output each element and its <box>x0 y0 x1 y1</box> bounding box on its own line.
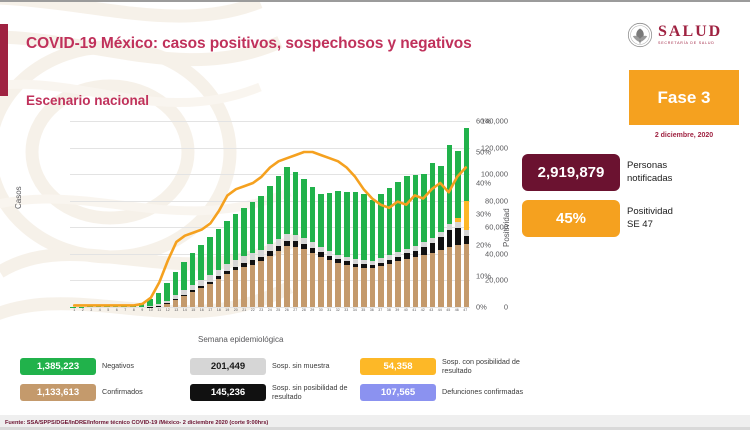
chart-bar <box>139 121 145 307</box>
chart-bar <box>370 121 376 307</box>
covid-chart: Casos Positividad Semana epidemiológica … <box>18 117 508 357</box>
bar-segment <box>395 252 401 257</box>
bar-segment <box>198 280 204 286</box>
chart-bar <box>293 121 299 307</box>
bar-segment <box>216 229 222 270</box>
phase-badge: Fase 3 <box>629 70 739 125</box>
chart-bar <box>241 121 247 307</box>
bar-segment <box>164 301 170 303</box>
bar-segment <box>113 306 119 307</box>
bar-segment <box>447 145 453 225</box>
chart-bar <box>130 121 136 307</box>
bar-segment <box>207 237 213 275</box>
bar-segment <box>104 306 110 307</box>
bar-segment <box>173 295 179 299</box>
bar-segment <box>173 272 179 296</box>
bar-segment <box>378 266 384 307</box>
x-tick-label: 15 <box>189 309 198 321</box>
chart-bar <box>198 121 204 307</box>
x-tick-label: 41 <box>410 309 419 321</box>
x-tick-label: 12 <box>164 309 173 321</box>
bar-segment <box>430 243 436 252</box>
bar-segment <box>413 257 419 307</box>
chart-bar <box>455 121 461 307</box>
chart-bar <box>164 121 170 307</box>
chart-bar <box>113 121 119 307</box>
report-date: 2 diciembre, 2020 <box>629 132 739 139</box>
x-tick-label: 47 <box>461 309 470 321</box>
bar-segment <box>284 167 290 234</box>
plot-area <box>70 121 470 307</box>
bar-segment <box>164 304 170 307</box>
chart-bar <box>413 121 419 307</box>
bar-segment <box>310 248 316 253</box>
bar-segment <box>370 265 376 269</box>
bar-segment <box>276 246 282 251</box>
bar-segment <box>344 265 350 307</box>
bar-segment <box>395 261 401 307</box>
page-subtitle: Escenario nacional <box>26 93 149 108</box>
x-tick-label: 18 <box>215 309 224 321</box>
legend-value: 145,236 <box>190 384 266 401</box>
bar-segment <box>318 194 324 246</box>
bar-segment <box>233 260 239 267</box>
legend-item: 1,133,613Confirmados <box>20 384 143 401</box>
y2-tick-label: 50% <box>476 148 491 157</box>
x-tick-label: 24 <box>266 309 275 321</box>
bar-segment <box>276 239 282 246</box>
bar-segment <box>258 196 264 250</box>
bar-segment <box>310 242 316 248</box>
x-tick-label: 44 <box>436 309 445 321</box>
bar-segment <box>344 257 350 262</box>
legend-value: 1,133,613 <box>20 384 96 401</box>
bar-segment <box>301 238 307 244</box>
legend-item: 145,236Sosp. sin posibilidad de resultad… <box>190 384 358 402</box>
chart-bar <box>447 121 453 307</box>
legend-item: 107,565Defunciones confirmadas <box>360 384 523 401</box>
bar-segment <box>207 282 213 284</box>
bar-segment <box>438 166 444 232</box>
bar-segment <box>447 230 453 247</box>
chart-bar <box>267 121 273 307</box>
legend-value: 107,565 <box>360 384 436 401</box>
bar-segment <box>258 250 264 257</box>
bar-segment <box>173 299 179 300</box>
mexico-eagle-seal-icon <box>627 22 653 48</box>
chart-bar <box>421 121 427 307</box>
bar-segment <box>224 221 230 264</box>
bar-segment <box>344 192 350 257</box>
chart-bar <box>344 121 350 307</box>
x-tick-label: 14 <box>181 309 190 321</box>
x-tick-label: 19 <box>223 309 232 321</box>
bar-segment <box>301 244 307 249</box>
bar-segment <box>181 262 187 290</box>
bar-segment <box>233 214 239 260</box>
logo-subtitle: SECRETARÍA DE SALUD <box>658 42 722 46</box>
chart-bar <box>310 121 316 307</box>
bar-segment <box>207 275 213 282</box>
bar-segment <box>190 290 196 292</box>
stat-label-positivity: Positividad SE 47 <box>627 206 673 230</box>
bar-segment <box>361 268 367 307</box>
chart-bar <box>96 121 102 307</box>
bar-segment <box>198 286 204 288</box>
bar-segment <box>404 176 410 248</box>
bar-segment <box>370 268 376 307</box>
chart-bar <box>233 121 239 307</box>
chart-bar <box>207 121 213 307</box>
bar-segment <box>310 253 316 307</box>
bar-segment <box>301 249 307 307</box>
y2-tick-label: 20% <box>476 241 491 250</box>
bar-segment <box>250 202 256 253</box>
chart-bar <box>70 121 76 307</box>
x-tick-label: 4 <box>96 309 105 321</box>
x-tick-label: 35 <box>359 309 368 321</box>
bar-segment <box>335 255 341 260</box>
bar-segment <box>164 303 170 304</box>
bar-segment <box>284 234 290 240</box>
bar-segment <box>250 253 256 260</box>
x-tick-label: 10 <box>147 309 156 321</box>
bar-segment <box>164 283 170 301</box>
bar-segment <box>96 306 102 307</box>
x-tick-label: 26 <box>283 309 292 321</box>
bar-segment <box>241 256 247 263</box>
bar-segment <box>361 260 367 264</box>
bar-segment <box>267 256 273 307</box>
stat-label-notified-line1: Personas <box>627 160 672 172</box>
y2-tick-label: 40% <box>476 179 491 188</box>
y2-tick-label: 0% <box>476 303 487 312</box>
bar-segment <box>267 186 273 244</box>
bar-segment <box>293 247 299 307</box>
legend-label: Sosp. sin muestra <box>272 362 330 371</box>
stat-value-notified: 2,919,879 <box>522 154 620 191</box>
bar-segment <box>353 267 359 307</box>
y-axis-title: Casos <box>14 186 23 209</box>
footer-source: Fuente: SSA/SPPS/DGE/InDRE/Informe técni… <box>0 420 268 426</box>
bar-segment <box>361 264 367 268</box>
bar-segment <box>198 245 204 280</box>
legend-value: 1,385,223 <box>20 358 96 375</box>
bar-segment <box>181 290 187 295</box>
chart-bar <box>404 121 410 307</box>
chart-bar <box>156 121 162 307</box>
chart-bar <box>430 121 436 307</box>
bar-segment <box>216 279 222 307</box>
bar-segment <box>430 238 436 243</box>
bar-segment <box>139 303 145 307</box>
bar-segment <box>301 179 307 239</box>
x-tick-label: 30 <box>317 309 326 321</box>
bar-segment <box>173 300 179 307</box>
bar-segment <box>455 151 461 218</box>
bar-segment <box>413 251 419 257</box>
chart-bar <box>224 121 230 307</box>
bar-segment <box>327 256 333 260</box>
chart-bar <box>121 121 127 307</box>
x-tick-label: 7 <box>121 309 130 321</box>
bar-segment <box>181 296 187 307</box>
x-tick-label: 29 <box>308 309 317 321</box>
legend-label: Defunciones confirmadas <box>442 388 523 397</box>
x-tick-label: 32 <box>334 309 343 321</box>
bar-segment <box>310 187 316 243</box>
stat-value-positivity: 45% <box>522 200 620 237</box>
stat-label-positivity-line2: SE 47 <box>627 219 673 231</box>
bar-segment <box>224 271 230 274</box>
chart-bar <box>79 121 85 307</box>
bar-segment <box>455 228 461 245</box>
x-tick-label: 13 <box>172 309 181 321</box>
bar-segment <box>335 191 341 254</box>
bar-segment <box>447 247 453 307</box>
bar-segment <box>438 250 444 307</box>
bar-segment <box>284 246 290 307</box>
x-tick-label: 5 <box>104 309 113 321</box>
chart-bar <box>327 121 333 307</box>
x-tick-label: 28 <box>300 309 309 321</box>
bar-segment <box>378 258 384 262</box>
bar-segment <box>241 208 247 256</box>
x-tick-label: 38 <box>385 309 394 321</box>
title-accent-bar <box>0 24 8 96</box>
legend-value: 201,449 <box>190 358 266 375</box>
x-tick-label: 42 <box>419 309 428 321</box>
stat-label-notified-line2: notificadas <box>627 173 672 185</box>
bar-segment <box>370 261 376 265</box>
x-tick-label: 27 <box>291 309 300 321</box>
bar-segment <box>344 261 350 265</box>
bar-segment <box>464 230 470 236</box>
bar-segment <box>190 292 196 307</box>
bar-segment <box>464 128 470 201</box>
bar-segment <box>395 182 401 252</box>
bar-segment <box>216 276 222 279</box>
bar-segment <box>430 253 436 307</box>
x-tick-label: 21 <box>240 309 249 321</box>
bar-segment <box>421 247 427 254</box>
bar-segment <box>395 257 401 262</box>
y2-tick-label: 10% <box>476 272 491 281</box>
legend-label: Sosp. sin posibilidad de resultado <box>272 384 358 402</box>
phase-label: Fase 3 <box>658 88 711 108</box>
x-tick-label: 2 <box>79 309 88 321</box>
bar-segment <box>318 247 324 252</box>
bar-segment <box>464 236 470 244</box>
chart-bar <box>318 121 324 307</box>
logo-wordmark: SALUD <box>658 24 722 40</box>
bar-segment <box>404 249 410 254</box>
y2-tick-label: 60% <box>476 117 491 126</box>
chart-bar <box>104 121 110 307</box>
bar-segment <box>447 224 453 230</box>
x-tick-label: 3 <box>87 309 96 321</box>
bar-segment <box>464 244 470 307</box>
x-tick-label: 39 <box>393 309 402 321</box>
bar-segment <box>156 306 162 307</box>
x-tick-label: 22 <box>249 309 258 321</box>
x-axis-title: Semana epidemiológica <box>198 335 283 344</box>
bar-segment <box>421 174 427 242</box>
chart-bar <box>387 121 393 307</box>
chart-bar <box>284 121 290 307</box>
bar-segment <box>130 305 136 307</box>
chart-bar <box>438 121 444 307</box>
chart-bar <box>378 121 384 307</box>
bar-segment <box>284 241 290 246</box>
bar-segment <box>190 285 196 291</box>
legend-label: Negativos <box>102 362 134 371</box>
bar-segment <box>430 163 436 238</box>
bar-segment <box>378 194 384 258</box>
legend-item: 201,449Sosp. sin muestra <box>190 358 330 375</box>
legend-label: Confirmados <box>102 388 143 397</box>
bar-segment <box>233 267 239 270</box>
bar-segment <box>438 232 444 237</box>
bar-series-group <box>70 121 470 307</box>
x-tick-label: 17 <box>206 309 215 321</box>
chart-bar <box>258 121 264 307</box>
bar-segment <box>121 305 127 307</box>
bar-segment <box>387 188 393 255</box>
x-tick-label: 37 <box>376 309 385 321</box>
x-tick-label: 11 <box>155 309 164 321</box>
bar-segment <box>353 259 359 263</box>
bar-segment <box>455 218 461 222</box>
legend-item: 54,358Sosp. con posibilidad de resultado <box>360 358 528 376</box>
chart-bar <box>301 121 307 307</box>
bar-segment <box>421 255 427 307</box>
bar-segment <box>327 251 333 256</box>
x-tick-label: 23 <box>257 309 266 321</box>
bar-segment <box>181 295 187 296</box>
bar-segment <box>387 255 393 260</box>
bar-segment <box>387 260 393 264</box>
x-tick-label: 45 <box>444 309 453 321</box>
salud-logo: SALUD SECRETARÍA DE SALUD <box>627 22 722 48</box>
stat-positividad: 45% Positividad SE 47 <box>522 200 673 237</box>
bar-segment <box>276 251 282 307</box>
bar-segment <box>156 293 162 305</box>
y2-tick-label: 30% <box>476 210 491 219</box>
bar-segment <box>318 257 324 307</box>
bar-segment <box>353 264 359 268</box>
x-tick-label: 40 <box>402 309 411 321</box>
bar-segment <box>335 259 341 263</box>
bar-segment <box>455 222 461 228</box>
x-tick-label: 20 <box>232 309 241 321</box>
chart-bar <box>276 121 282 307</box>
bar-segment <box>293 235 299 241</box>
x-tick-label: 1 <box>70 309 79 321</box>
x-axis-ticks: 1234567891011121314151617181920212223242… <box>70 309 470 321</box>
bar-segment <box>464 201 470 230</box>
bar-segment <box>413 175 419 245</box>
bar-segment <box>421 242 427 247</box>
legend-item: 1,385,223Negativos <box>20 358 134 375</box>
bar-segment <box>370 200 376 260</box>
legend-value: 54,358 <box>360 358 436 375</box>
x-tick-label: 34 <box>351 309 360 321</box>
bar-segment <box>258 257 264 262</box>
bar-segment <box>250 265 256 308</box>
bar-segment <box>404 259 410 307</box>
x-tick-label: 25 <box>274 309 283 321</box>
stat-label-positivity-line1: Positividad <box>627 206 673 218</box>
bar-segment <box>318 252 324 256</box>
chart-bar <box>173 121 179 307</box>
x-tick-label: 46 <box>453 309 462 321</box>
chart-bar <box>250 121 256 307</box>
bar-segment <box>276 176 282 239</box>
bar-segment <box>241 263 247 267</box>
x-tick-label: 36 <box>368 309 377 321</box>
stat-personas-notificadas: 2,919,879 Personas notificadas <box>522 154 672 191</box>
chart-bar <box>181 121 187 307</box>
chart-bar <box>353 121 359 307</box>
bar-segment <box>387 264 393 307</box>
page-title: COVID-19 México: casos positivos, sospec… <box>26 35 472 53</box>
chart-bar <box>216 121 222 307</box>
chart-bar <box>361 121 367 307</box>
bar-segment <box>216 270 222 277</box>
chart-bar <box>87 121 93 307</box>
bar-segment <box>156 304 162 305</box>
x-tick-label: 6 <box>113 309 122 321</box>
bar-segment <box>207 284 213 307</box>
x-tick-label: 43 <box>427 309 436 321</box>
bar-segment <box>267 251 273 256</box>
chart-bar <box>395 121 401 307</box>
bar-segment <box>250 260 256 264</box>
bar-segment <box>198 288 204 307</box>
bar-segment <box>293 241 299 246</box>
bar-segment <box>233 270 239 307</box>
slide-root: COVID-19 México: casos positivos, sospec… <box>0 0 750 430</box>
bar-segment <box>327 193 333 251</box>
bar-segment <box>87 306 93 307</box>
x-tick-label: 31 <box>325 309 334 321</box>
chart-bar <box>190 121 196 307</box>
chart-bar <box>147 121 153 307</box>
x-tick-label: 8 <box>130 309 139 321</box>
chart-bar <box>464 121 470 307</box>
bar-segment <box>224 274 230 307</box>
chart-bar <box>335 121 341 307</box>
bar-segment <box>455 245 461 307</box>
bar-segment <box>361 194 367 260</box>
bar-segment <box>327 260 333 307</box>
bar-segment <box>147 299 153 306</box>
chart-legend: 1,385,223Negativos1,133,613Confirmados20… <box>20 358 536 406</box>
bar-segment <box>353 192 359 259</box>
bar-segment <box>190 253 196 285</box>
bar-segment <box>258 261 264 307</box>
bar-segment <box>335 263 341 307</box>
bar-segment <box>224 264 230 271</box>
bar-segment <box>293 172 299 236</box>
x-tick-label: 16 <box>198 309 207 321</box>
stat-label-notified: Personas notificadas <box>627 160 672 184</box>
x-tick-label: 33 <box>342 309 351 321</box>
bar-segment <box>438 237 444 250</box>
bar-segment <box>378 263 384 267</box>
legend-label: Sosp. con posibilidad de resultado <box>442 358 528 376</box>
